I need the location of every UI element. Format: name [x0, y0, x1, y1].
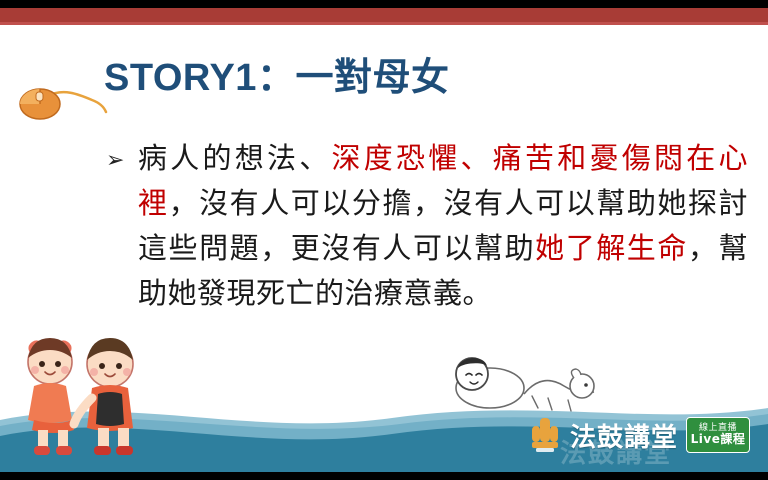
computer-mouse-icon — [18, 80, 108, 130]
slide-title: STORY1：一對母女 — [104, 46, 449, 101]
footer-branding: 法鼓講堂 線上直播 Live課程 — [528, 414, 750, 456]
run-0: 病人的想法、 — [138, 141, 332, 175]
run-3-highlight: 她了解生命 — [535, 231, 688, 265]
body-paragraph: 病人的想法、深度恐懼、痛苦和憂傷悶在心裡，沒有人可以分擔，沒有人可以幫助她探討這… — [100, 136, 748, 316]
live-course-badge: 線上直播 Live課程 — [686, 417, 750, 453]
two-children-illustration — [4, 324, 184, 464]
bullet-arrow-icon: ➢ — [106, 150, 124, 172]
top-accent-bar — [0, 8, 768, 25]
slide-frame: STORY1：一對母女 ➢ 病人的想法、深度恐懼、痛苦和憂傷悶在心裡，沒有人可以… — [0, 0, 768, 480]
brand-name: 法鼓講堂 — [570, 417, 678, 454]
slide-body: ➢ 病人的想法、深度恐懼、痛苦和憂傷悶在心裡，沒有人可以分擔，沒有人可以幫助她探… — [100, 136, 748, 316]
presentation-slide: STORY1：一對母女 ➢ 病人的想法、深度恐懼、痛苦和憂傷悶在心裡，沒有人可以… — [0, 8, 768, 472]
live-badge-line2: Live課程 — [691, 433, 746, 446]
top-accent-bar-highlight — [0, 22, 768, 25]
dharma-drum-logo-icon — [528, 414, 562, 456]
